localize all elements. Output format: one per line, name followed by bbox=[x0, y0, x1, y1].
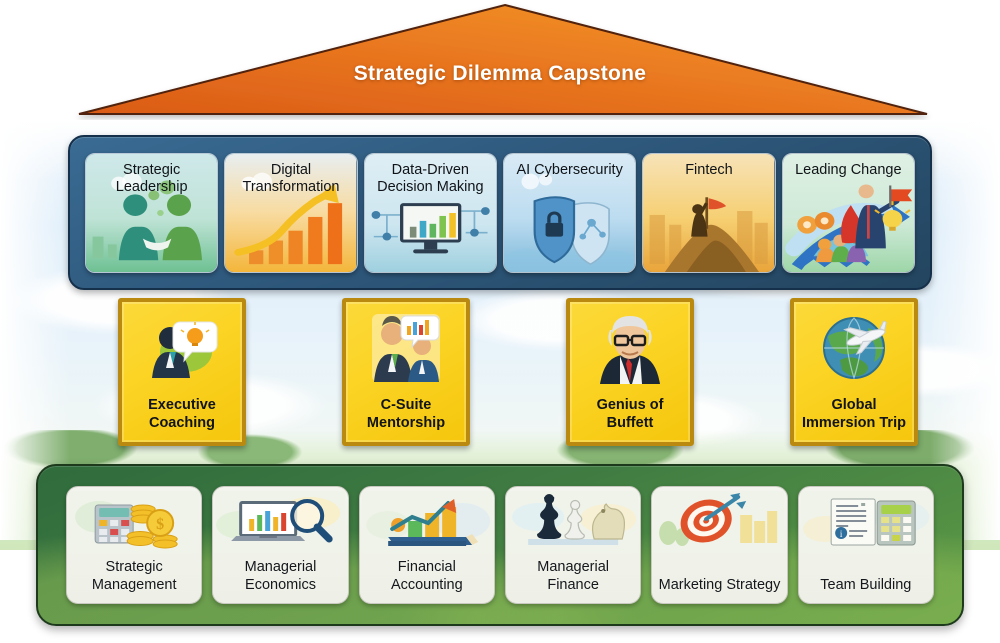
blue-card-label: AI Cybersecurity bbox=[504, 162, 635, 179]
two-executives-chart-bubble-icon bbox=[370, 312, 442, 384]
yellow-card-label: Executive Coaching bbox=[122, 396, 242, 432]
investor-portrait-icon bbox=[594, 312, 666, 384]
green-card-label: Marketing Strategy bbox=[652, 576, 786, 594]
book-growth-chart-icon bbox=[360, 491, 494, 553]
document-calculator-icon: i bbox=[799, 491, 933, 553]
blue-card-label: Leading Change bbox=[783, 162, 914, 179]
green-card-label: Financial Accounting bbox=[360, 558, 494, 594]
blue-card-digital-transformation[interactable]: Digital Transformation bbox=[224, 153, 357, 273]
green-card-label: Team Building bbox=[799, 576, 933, 594]
yellow-card-label: Genius of Buffett bbox=[570, 396, 690, 432]
yellow-card-label: Global Immersion Trip bbox=[794, 396, 914, 432]
blue-card-leading-change[interactable]: Leading Change bbox=[782, 153, 915, 273]
blue-card-fintech[interactable]: Fintech bbox=[642, 153, 775, 273]
roof-title: Strategic Dilemma Capstone bbox=[0, 62, 1000, 86]
coach-speech-bulb-icon bbox=[146, 312, 218, 384]
green-card-label: Managerial Economics bbox=[213, 558, 347, 594]
green-card-marketing-strategy[interactable]: Marketing Strategy bbox=[651, 486, 787, 604]
green-card-strategic-management[interactable]: $ Strategic Management bbox=[66, 486, 202, 604]
globe-airplane-icon bbox=[818, 312, 890, 384]
blue-card-label: Digital Transformation bbox=[225, 162, 356, 196]
blue-card-label: Data-Driven Decision Making bbox=[365, 162, 496, 196]
blue-card-strategic-leadership[interactable]: Strategic Leadership bbox=[85, 153, 218, 273]
infographic-canvas: Strategic Dilemma Capstone Strategic Lea… bbox=[0, 0, 1000, 643]
yellow-card-global-immersion-trip[interactable]: Global Immersion Trip bbox=[790, 298, 918, 446]
target-dart-icon bbox=[652, 491, 786, 553]
svg-text:$: $ bbox=[156, 516, 164, 533]
green-card-label: Strategic Management bbox=[67, 558, 201, 594]
green-card-managerial-finance[interactable]: Managerial Finance bbox=[505, 486, 641, 604]
laptop-magnifier-icon bbox=[213, 491, 347, 553]
green-tier-band: $ Strategic Management bbox=[36, 464, 964, 626]
yellow-tier-row: Executive Coaching bbox=[118, 298, 918, 446]
yellow-card-executive-coaching[interactable]: Executive Coaching bbox=[118, 298, 246, 446]
blue-tier-band: Strategic Leadership Digital Transformat… bbox=[68, 135, 932, 290]
green-card-managerial-economics[interactable]: Managerial Economics bbox=[212, 486, 348, 604]
chess-pieces-icon bbox=[506, 491, 640, 553]
roof-triangle-icon bbox=[0, 0, 1000, 120]
blue-card-data-driven-decision-making[interactable]: Data-Driven Decision Making bbox=[364, 153, 497, 273]
yellow-card-genius-of-buffett[interactable]: Genius of Buffett bbox=[566, 298, 694, 446]
green-card-team-building[interactable]: i Team Building bbox=[798, 486, 934, 604]
blue-card-label: Fintech bbox=[643, 162, 774, 179]
blue-card-ai-cybersecurity[interactable]: AI Cybersecurity bbox=[503, 153, 636, 273]
blue-card-label: Strategic Leadership bbox=[86, 162, 217, 196]
calculator-coins-icon: $ bbox=[67, 491, 201, 553]
yellow-card-c-suite-mentorship[interactable]: C-Suite Mentorship bbox=[342, 298, 470, 446]
green-card-label: Managerial Finance bbox=[506, 558, 640, 594]
roof: Strategic Dilemma Capstone bbox=[0, 0, 1000, 120]
yellow-card-label: C-Suite Mentorship bbox=[346, 396, 466, 432]
green-card-financial-accounting[interactable]: Financial Accounting bbox=[359, 486, 495, 604]
